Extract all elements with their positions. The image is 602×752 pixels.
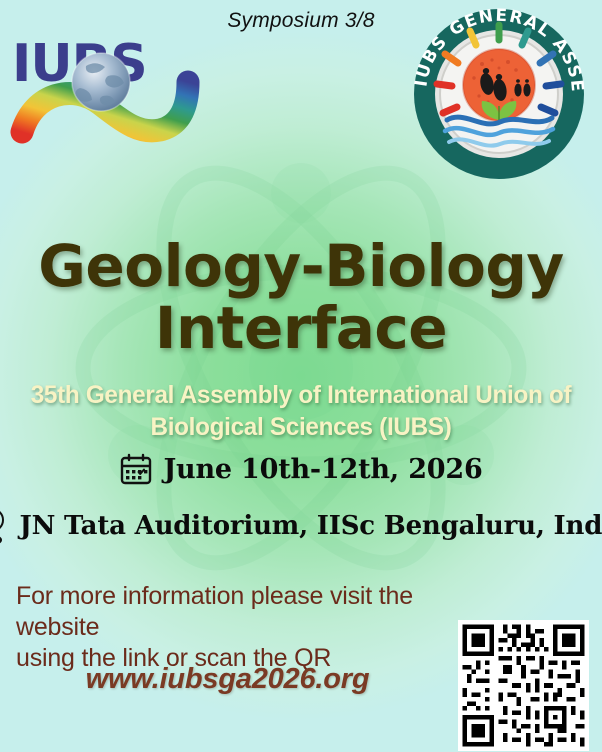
title-line-1: Geology-Biology — [38, 232, 563, 300]
event-date-row: June 10th-12th, 2026 — [0, 452, 602, 486]
info-text: For more information please visit the we… — [16, 581, 486, 674]
subtitle-line-1: 35th General Assembly of International U… — [31, 381, 543, 409]
website-url[interactable]: www.iubsga2026.org — [0, 663, 455, 696]
title-line-2: Interface — [14, 297, 588, 359]
page-subtitle: 35th General Assembly of International U… — [9, 379, 593, 443]
event-venue-row: JN Tata Auditorium, IISc Bengaluru, Indi… — [0, 506, 602, 546]
event-venue: JN Tata Auditorium, IISc Bengaluru, Indi… — [20, 511, 602, 541]
page-title: Geology-Biology Interface — [0, 235, 602, 359]
calendar-icon — [119, 452, 153, 486]
event-date: June 10th-12th, 2026 — [163, 454, 482, 485]
info-line-1: For more information please visit the we… — [16, 582, 413, 641]
qr-code-icon[interactable] — [458, 620, 589, 751]
location-pin-icon — [0, 506, 10, 546]
iubs-logo: IUBS — [8, 26, 238, 156]
general-assembly-seal-logo: IUBS GENERAL ASSEMBLY 2026 — [404, 2, 594, 180]
poster-root: Symposium 3/8 — [0, 0, 602, 752]
